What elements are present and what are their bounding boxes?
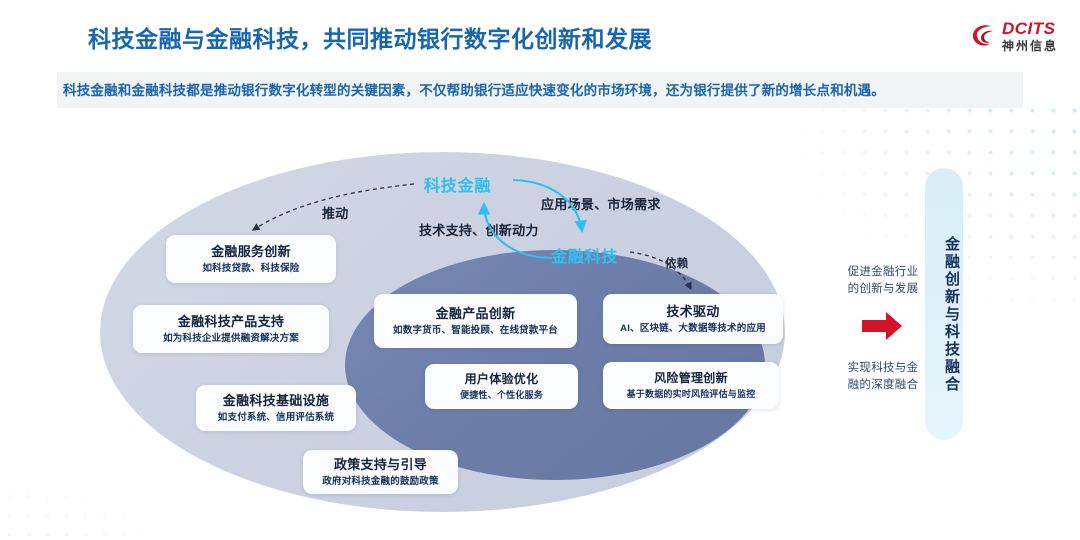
card-subtitle: 如数字货币、智能投顾、在线贷款平台	[393, 325, 558, 336]
card-subtitle: 如为科技企业提供融资解决方案	[163, 333, 299, 344]
subtitle-text: 科技金融和金融科技都是推动银行数字化转型的关键因素，不仅帮助银行适应快速变化的市…	[63, 79, 1023, 99]
card-subtitle: 基于数据的实时风险评估与监控	[627, 389, 756, 400]
dcits-swirl-icon	[971, 22, 997, 50]
label-concept-tech-finance: 科技金融	[424, 172, 491, 196]
card-title: 金融科技产品支持	[178, 314, 284, 330]
card-subtitle: 如科技贷款、科技保险	[202, 263, 299, 274]
outcome-text-below: 实现科技与金 融的深度融合	[835, 360, 931, 393]
label-relation-scenario: 应用场景、市场需求	[541, 194, 661, 213]
card-subtitle: 如支付系统、信用评估系统	[218, 412, 334, 423]
card-outer-0[interactable]: 金融服务创新 如科技贷款、科技保险	[166, 235, 336, 283]
card-inner-0[interactable]: 金融产品创新 如数字货币、智能投顾、在线贷款平台	[374, 294, 577, 348]
card-outer-2[interactable]: 金融科技基础设施 如支付系统、信用评估系统	[196, 385, 356, 431]
slide-canvas: 科技金融与金融科技，共同推动银行数字化创新和发展 科技金融和金融科技都是推动银行…	[0, 0, 1080, 540]
card-title: 政策支持与引导	[334, 457, 427, 473]
right-arrow-icon	[860, 310, 904, 342]
vertical-banner-text: 金融创新与科技融合	[926, 236, 962, 394]
outcome-text-above: 促进金融行业 的创新与发展	[835, 264, 931, 297]
card-title: 风险管理创新	[654, 371, 728, 385]
card-subtitle: 便捷性、个性化服务	[460, 390, 543, 401]
label-relation-support: 技术支持、创新动力	[419, 220, 539, 239]
card-outer-3[interactable]: 政策支持与引导 政府对科技金融的鼓励政策	[303, 450, 458, 494]
card-inner-1[interactable]: 技术驱动 AI、区块链、大数据等技术的应用	[603, 294, 783, 344]
page-title: 科技金融与金融科技，共同推动银行数字化创新和发展	[88, 20, 652, 54]
card-title: 用户体验优化	[465, 372, 539, 386]
card-title: 金融服务创新	[211, 244, 291, 260]
brand-logo: DCITS 神州信息	[971, 18, 1058, 54]
card-subtitle: 政府对科技金融的鼓励政策	[322, 476, 438, 487]
card-outer-1[interactable]: 金融科技产品支持 如为科技企业提供融资解决方案	[133, 305, 329, 353]
card-subtitle: AI、区块链、大数据等技术的应用	[620, 323, 766, 334]
card-title: 金融科技基础设施	[223, 393, 329, 409]
label-concept-fintech: 金融科技	[551, 243, 618, 267]
card-title: 技术驱动	[666, 304, 719, 320]
card-inner-2[interactable]: 用户体验优化 便捷性、个性化服务	[425, 364, 578, 409]
label-relation-depend: 依赖	[665, 255, 688, 271]
logo-text-en: DCITS	[1002, 20, 1058, 37]
card-inner-3[interactable]: 风险管理创新 基于数据的实时风险评估与监控	[603, 362, 779, 409]
label-relation-drive: 推动	[322, 203, 349, 222]
logo-text-cn: 神州信息	[1002, 40, 1058, 52]
card-title: 金融产品创新	[436, 306, 516, 322]
